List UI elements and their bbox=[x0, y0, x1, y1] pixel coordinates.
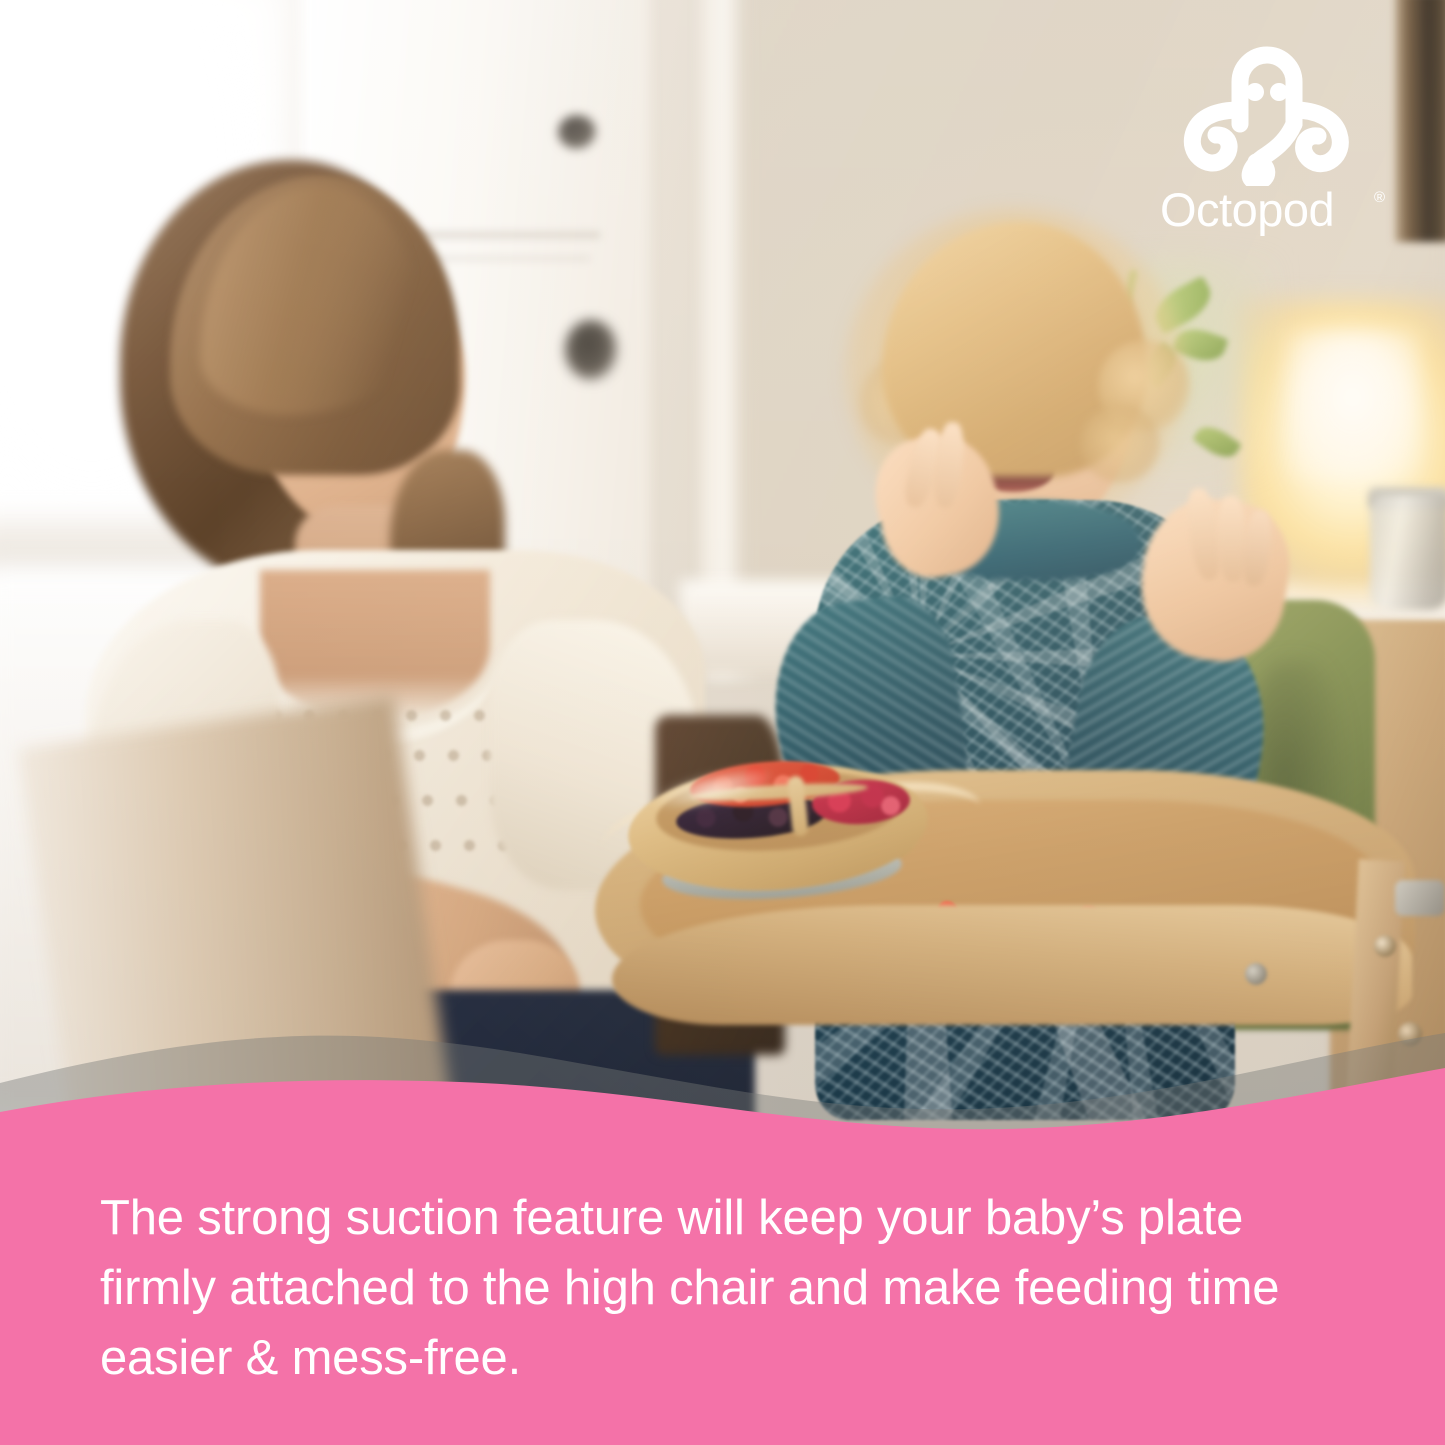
high-chair-screw bbox=[1374, 935, 1396, 957]
product-image-card: The strong suction feature will keep you… bbox=[0, 0, 1445, 1445]
background-picture-frame bbox=[1395, 0, 1445, 242]
high-chair-tray-lip bbox=[612, 905, 1412, 1025]
tray-screw bbox=[1245, 963, 1267, 985]
high-chair-hinge bbox=[1395, 880, 1445, 916]
background-jar bbox=[1370, 495, 1445, 610]
cabinet-knob-upper bbox=[558, 115, 596, 149]
toddler-hair-curl bbox=[1080, 405, 1160, 483]
caption-text: The strong suction feature will keep you… bbox=[100, 1183, 1360, 1393]
